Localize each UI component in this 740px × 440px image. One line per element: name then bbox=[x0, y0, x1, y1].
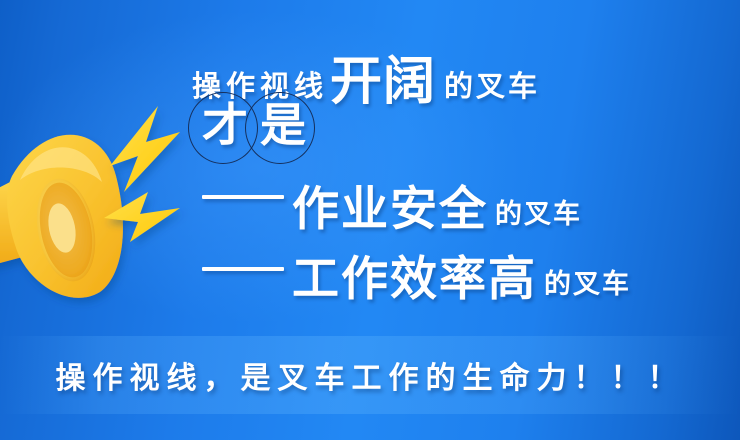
footer-slogan: 操作视线，是叉车工作的生命力！！！ bbox=[0, 353, 740, 397]
lead-dash-line-3 bbox=[202, 195, 284, 199]
megaphone-body bbox=[0, 135, 123, 298]
headline-line-3: 作业安全 的叉车 bbox=[292, 170, 582, 239]
megaphone-icon bbox=[0, 96, 204, 296]
headline-4-highlight: 工作效率高 bbox=[292, 240, 537, 309]
headline-1-suffix: 的叉车 bbox=[444, 63, 540, 105]
headline-line-4: 工作效率高 的叉车 bbox=[292, 240, 631, 309]
circled-word-1: 才 bbox=[202, 102, 248, 148]
promo-banner: 操作视线 开阔 的叉车 才 是 作业安全 的叉车 工作效率高 的叉车 操作视线，… bbox=[0, 0, 740, 440]
headline-3-highlight: 作业安全 bbox=[292, 170, 488, 239]
lead-dash-line-4 bbox=[202, 267, 284, 271]
headline-3-suffix: 的叉车 bbox=[495, 192, 582, 231]
headline-4-suffix: 的叉车 bbox=[544, 262, 631, 301]
lightning-bolt-icon bbox=[110, 106, 180, 192]
circled-word-2: 是 bbox=[260, 102, 306, 148]
circled-words-group: 才 是 bbox=[188, 92, 378, 168]
